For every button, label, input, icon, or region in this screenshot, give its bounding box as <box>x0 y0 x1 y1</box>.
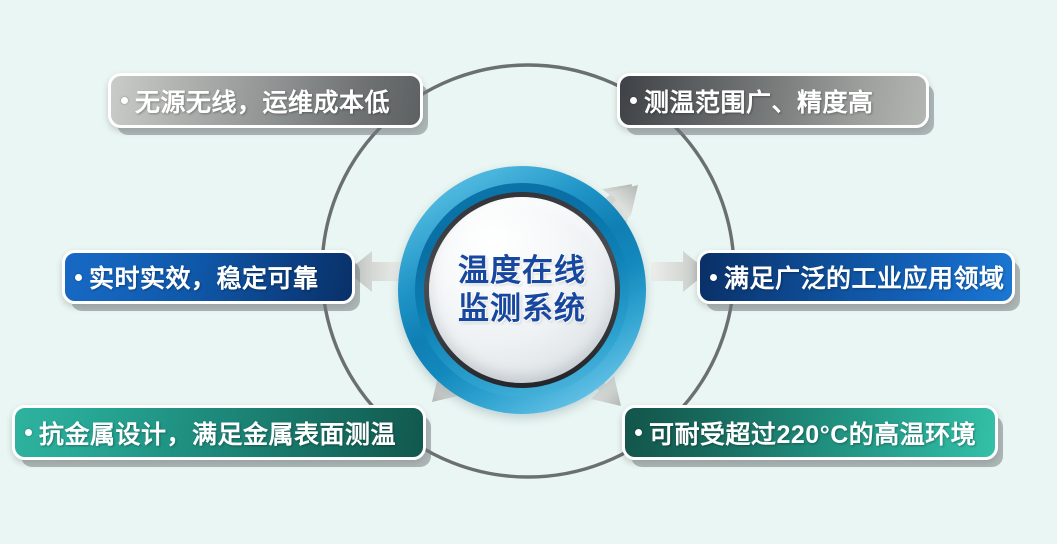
feature-box-right[interactable]: 满足广泛的工业应用领域 <box>697 250 1015 304</box>
diagram-canvas: 无源无线，运维成本低 测温范围广、精度高 实时实效，稳定可靠 满足广泛的工业应用… <box>0 0 1057 544</box>
feature-box-bottom-left[interactable]: 抗金属设计，满足金属表面测温 <box>12 405 426 460</box>
hub-title-line-2: 监测系统 <box>458 290 586 328</box>
feature-label: 抗金属设计，满足金属表面测温 <box>39 415 396 451</box>
feature-box-top-left[interactable]: 无源无线，运维成本低 <box>108 73 423 128</box>
arrow-left-icon <box>347 251 404 292</box>
feature-box-left[interactable]: 实时实效，稳定可靠 <box>62 250 355 304</box>
bullet-icon <box>710 274 717 281</box>
hub-title-line-1: 温度在线 <box>458 252 586 290</box>
bullet-icon <box>630 97 637 104</box>
bullet-icon <box>121 97 128 104</box>
bullet-icon <box>635 429 642 436</box>
feature-box-bottom-right[interactable]: 可耐受超过220°C的高温环境 <box>622 405 998 460</box>
central-hub[interactable]: 温度在线 监测系统 <box>398 166 646 414</box>
feature-label: 测温范围广、精度高 <box>644 83 874 119</box>
feature-label: 无源无线，运维成本低 <box>135 83 390 119</box>
bullet-icon <box>25 429 32 436</box>
bullet-icon <box>75 274 82 281</box>
hub-face: 温度在线 监测系统 <box>429 197 615 383</box>
feature-label: 可耐受超过220°C的高温环境 <box>649 415 976 451</box>
feature-label: 实时实效，稳定可靠 <box>89 259 319 295</box>
feature-box-top-right[interactable]: 测温范围广、精度高 <box>617 73 929 128</box>
feature-label: 满足广泛的工业应用领域 <box>724 259 1005 295</box>
